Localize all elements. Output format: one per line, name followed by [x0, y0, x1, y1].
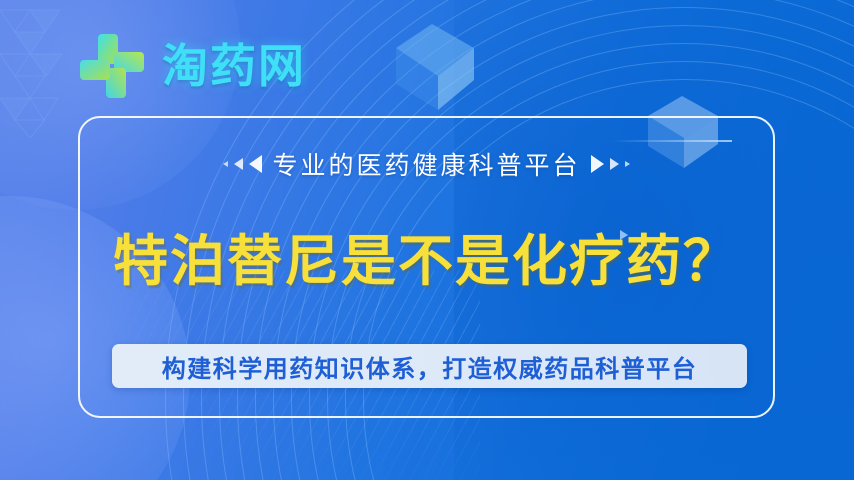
subtitle-row: 专业的医药健康科普平台: [80, 146, 773, 182]
poster-canvas: 淘药网 专业的医药健康科普平台 特泊替尼是不是化疗药？ 构建科学用药知识体系，打…: [0, 0, 854, 480]
triangle-right-arrows-icon: [591, 155, 630, 173]
page-title: 特泊替尼是不是化疗药？: [80, 216, 773, 296]
triangle-left-arrows-icon: [223, 155, 262, 173]
site-logo-text: 淘药网: [162, 43, 306, 89]
tagline-text: 构建科学用药知识体系，打造权威药品科普平台: [162, 349, 698, 384]
site-logo[interactable]: 淘药网: [76, 30, 306, 102]
cube-icon: [382, 14, 486, 118]
triangle-mosaic-icon: [0, 6, 72, 138]
medical-cross-pinwheel-icon: [76, 30, 148, 102]
content-card: 专业的医药健康科普平台 特泊替尼是不是化疗药？ 构建科学用药知识体系，打造权威药…: [78, 116, 775, 418]
tagline-banner: 构建科学用药知识体系，打造权威药品科普平台: [112, 344, 747, 388]
subtitle-text: 专业的医药健康科普平台: [272, 146, 580, 182]
